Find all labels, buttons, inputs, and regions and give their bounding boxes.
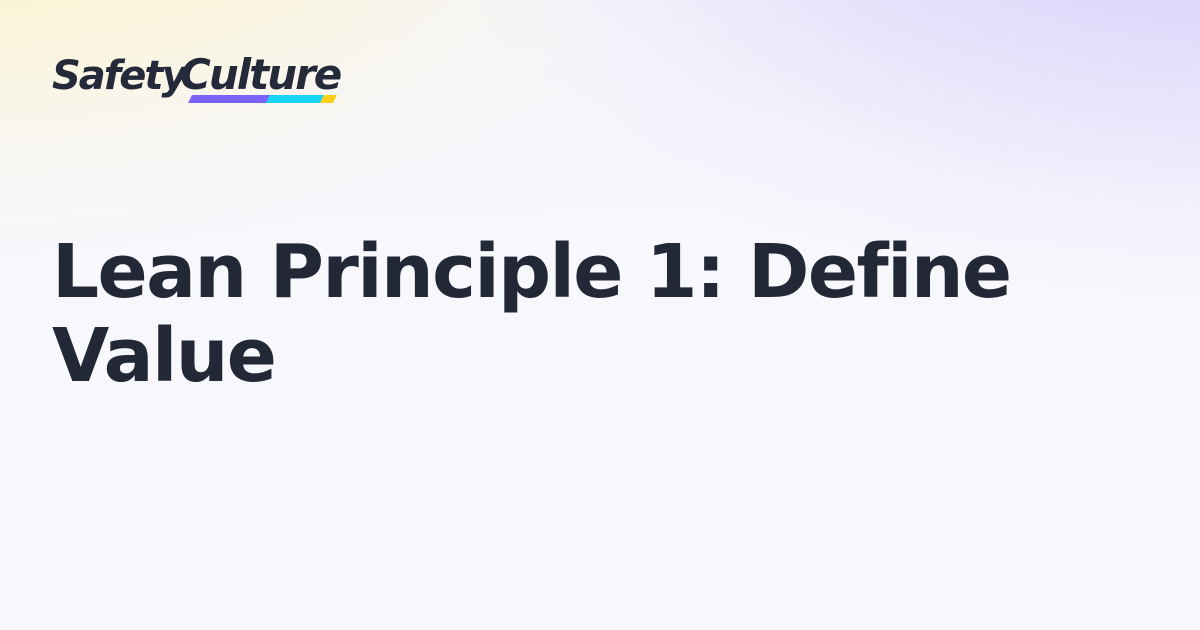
- title-container: Lean Principle 1: Define Value: [52, 0, 1148, 630]
- page-title: Lean Principle 1: Define Value: [52, 231, 1148, 398]
- banner-content: Safety Culture Lean Principle 1: Define …: [0, 0, 1200, 630]
- banner-card: Safety Culture Lean Principle 1: Define …: [0, 0, 1200, 630]
